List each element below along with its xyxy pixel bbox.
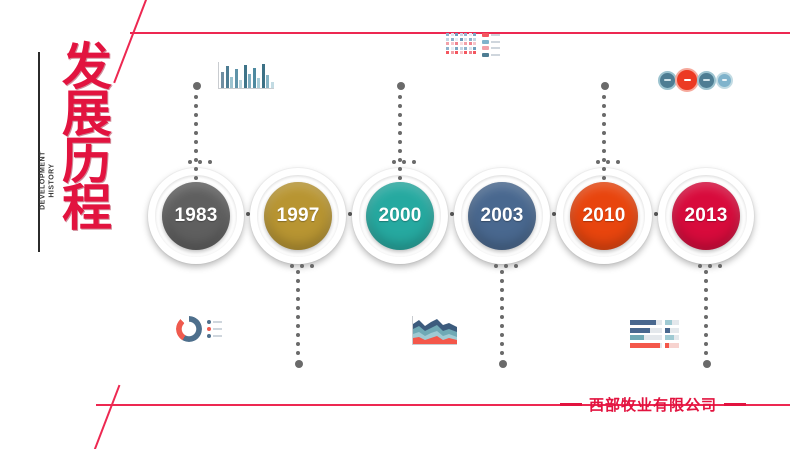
connector-triplet bbox=[188, 160, 212, 164]
timeline-node-1997[interactable]: 1997 bbox=[248, 166, 348, 266]
timeline-connector-down bbox=[295, 270, 301, 373]
bottom-diagonal-rule bbox=[86, 385, 121, 449]
connector-triplet bbox=[596, 160, 620, 164]
footer-dash-left bbox=[560, 403, 582, 406]
timeline-connector-up bbox=[397, 82, 403, 185]
donut-chart-icon bbox=[176, 316, 222, 342]
title-en-line-2: HISTORY bbox=[48, 135, 57, 227]
node-year-label: 1983 bbox=[162, 182, 230, 250]
title-en-line-1: DEVELOPMENT bbox=[40, 135, 49, 227]
node-year-label: 1997 bbox=[264, 182, 332, 250]
connector-triplet bbox=[494, 264, 518, 268]
heatmap-grid-icon bbox=[446, 33, 500, 57]
title-char-4: 程 bbox=[62, 185, 124, 232]
node-year-label: 2000 bbox=[366, 182, 434, 250]
title-char-2: 展 bbox=[62, 91, 124, 138]
horizontal-bars-icon bbox=[630, 320, 679, 348]
connector-triplet bbox=[392, 160, 416, 164]
slide-canvas: 发 展 历 程 DEVELOPMENT HISTORY 198319972000… bbox=[0, 0, 800, 449]
badge-2 bbox=[675, 68, 699, 92]
timeline-connector-up bbox=[601, 82, 607, 185]
heatmap-legend bbox=[482, 33, 500, 57]
title-english: DEVELOPMENT HISTORY bbox=[40, 135, 57, 227]
bar-chart-bars bbox=[218, 62, 274, 89]
timeline-connector-down bbox=[703, 270, 709, 373]
connector-triplet bbox=[698, 264, 722, 268]
timeline-connector-down bbox=[499, 270, 505, 373]
footer: 西部牧业有限公司 bbox=[560, 394, 746, 415]
timeline-node-2003[interactable]: 2003 bbox=[452, 166, 552, 266]
title-char-1: 发 bbox=[62, 44, 124, 91]
area-chart-icon bbox=[412, 316, 457, 350]
donut-ring bbox=[176, 316, 202, 342]
donut-legend bbox=[207, 320, 222, 338]
bar-chart-icon bbox=[218, 62, 274, 89]
heatmap-cells bbox=[446, 33, 476, 54]
connector-triplet bbox=[290, 264, 314, 268]
badge-4 bbox=[716, 72, 733, 89]
title-char-3: 历 bbox=[62, 138, 124, 185]
company-name: 西部牧业有限公司 bbox=[589, 394, 717, 415]
footer-dash-right bbox=[724, 403, 746, 406]
badge-3 bbox=[697, 71, 716, 90]
page-title: 发 展 历 程 DEVELOPMENT HISTORY bbox=[24, 52, 134, 252]
node-year-label: 2013 bbox=[672, 182, 740, 250]
timeline-node-2013[interactable]: 2013 bbox=[656, 166, 756, 266]
circle-badges-icon bbox=[658, 68, 733, 92]
title-chinese: 发 展 历 程 bbox=[62, 44, 124, 232]
node-year-label: 2010 bbox=[570, 182, 638, 250]
hbars-right-group bbox=[665, 320, 679, 348]
hbars-left-group bbox=[630, 320, 662, 348]
area-chart-svg bbox=[412, 316, 457, 345]
timeline: 198319972000200320102013 bbox=[146, 166, 756, 266]
node-year-label: 2003 bbox=[468, 182, 536, 250]
timeline-connector-up bbox=[193, 82, 199, 185]
